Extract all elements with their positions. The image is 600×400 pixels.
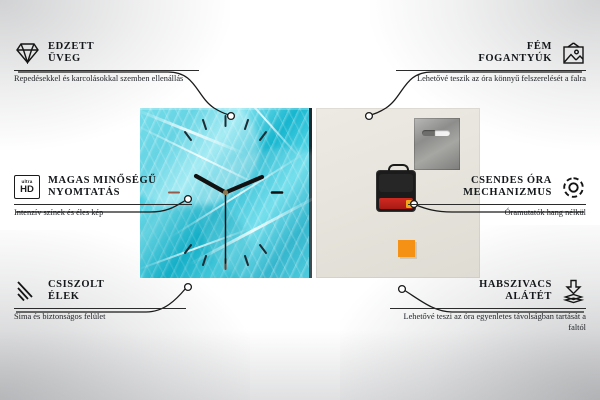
divider (14, 204, 192, 205)
feature-desc: Repedésekkel és karcolásokkal szemben el… (14, 74, 199, 85)
divider (14, 308, 186, 309)
feature-title: MAGAS MINŐSÉGŰNYOMTATÁS (48, 175, 156, 200)
foam-pad-icon (560, 278, 586, 304)
feature-title: EDZETTÜVEG (48, 41, 94, 66)
feature-foam-backing: HABSZIVACSALÁTÉT Lehetővé teszi az óra e… (390, 278, 586, 333)
feature-desc: Intenzív színek és éles kép (14, 208, 192, 219)
feature-title: FÉMFOGANTYÚK (478, 41, 552, 66)
feature-high-quality-print: ultra HD MAGAS MINŐSÉGŰNYOMTATÁS Intenzí… (14, 174, 192, 219)
divider (390, 308, 586, 309)
clock-hands (196, 176, 262, 263)
feature-desc: Lehetővé teszi az óra egyenletes távolsá… (390, 312, 586, 333)
diamond-icon (14, 40, 40, 66)
feature-title: CSISZOLTÉLEK (48, 279, 104, 304)
feature-tempered-glass: EDZETTÜVEG Repedésekkel és karcolásokkal… (14, 40, 199, 85)
polished-edges-icon (14, 278, 40, 304)
feature-desc: Sima és biztonságos felület (14, 312, 186, 323)
feature-silent-mechanism: CSENDES ÓRAMECHANIZMUS Óramutatók hang n… (408, 174, 586, 219)
ultra-hd-icon: ultra HD (14, 174, 40, 200)
feature-title: HABSZIVACSALÁTÉT (479, 279, 552, 304)
divider (396, 70, 586, 71)
picture-frame-icon (560, 40, 586, 66)
feature-polished-edges: CSISZOLTÉLEK Sima és biztonságos felület (14, 278, 186, 323)
divider (408, 204, 586, 205)
feature-title: CSENDES ÓRAMECHANIZMUS (463, 175, 552, 200)
divider (14, 70, 199, 71)
infographic-canvas: EDZETTÜVEG Repedésekkel és karcolásokkal… (0, 0, 600, 400)
gear-icon (560, 174, 586, 200)
feature-metal-handles: FÉMFOGANTYÚK Lehetővé teszik az óra könn… (396, 40, 586, 85)
feature-desc: Lehetővé teszik az óra könnyű felszerelé… (396, 74, 586, 85)
feature-desc: Óramutatók hang nélkül (408, 208, 586, 219)
